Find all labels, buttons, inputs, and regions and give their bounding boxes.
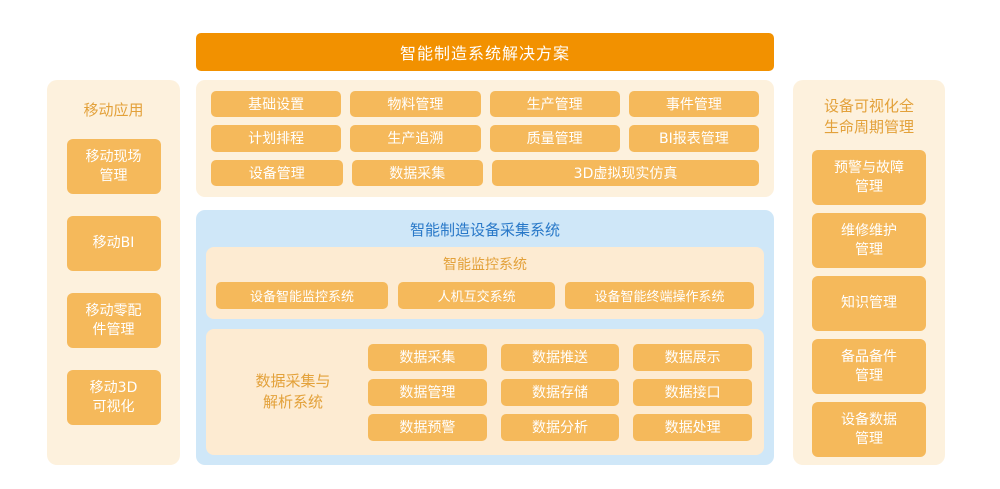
sidebar-item-mobile-site-management[interactable]: 移动现场 管理 bbox=[67, 139, 161, 194]
data-item-data-display[interactable]: 数据展示 bbox=[633, 344, 752, 371]
sidebar-left-mobile-apps: 移动应用 移动现场 管理 移动BI 移动零配 件管理 移动3D 可视化 bbox=[47, 80, 180, 465]
sidebar-right-items: 预警与故障 管理 维修维护 管理 知识管理 备品备件 管理 设备数据 管理 bbox=[793, 150, 945, 457]
module-bi-report-management[interactable]: BI报表管理 bbox=[629, 125, 759, 151]
module-quality-management[interactable]: 质量管理 bbox=[490, 125, 620, 151]
module-production-traceability[interactable]: 生产追溯 bbox=[350, 125, 480, 151]
sidebar-item-alarm-fault-management[interactable]: 预警与故障 管理 bbox=[812, 150, 926, 205]
sidebar-right-equipment-lifecycle: 设备可视化全 生命周期管理 预警与故障 管理 维修维护 管理 知识管理 备品备件… bbox=[793, 80, 945, 465]
monitor-item-human-machine-interaction[interactable]: 人机互交系统 bbox=[398, 282, 555, 309]
monitoring-items: 设备智能监控系统 人机互交系统 设备智能终端操作系统 bbox=[216, 282, 754, 309]
sidebar-item-knowledge-management[interactable]: 知识管理 bbox=[812, 276, 926, 331]
collection-system-title: 智能制造设备采集系统 bbox=[206, 218, 764, 242]
data-acquisition-label: 数据采集与 解析系统 bbox=[218, 371, 368, 413]
sidebar-item-mobile-3d-visualization[interactable]: 移动3D 可视化 bbox=[67, 370, 161, 425]
sidebar-item-spare-parts-management[interactable]: 备品备件 管理 bbox=[812, 339, 926, 394]
sidebar-left-title: 移动应用 bbox=[83, 100, 143, 121]
modules-row-3: 设备管理 数据采集 3D虚拟现实仿真 bbox=[211, 160, 759, 186]
sidebar-item-maintenance-management[interactable]: 维修维护 管理 bbox=[812, 213, 926, 268]
monitoring-system-title: 智能监控系统 bbox=[216, 254, 754, 276]
data-item-data-storage[interactable]: 数据存储 bbox=[501, 379, 620, 406]
data-item-data-alert[interactable]: 数据预警 bbox=[368, 414, 487, 441]
data-item-data-processing[interactable]: 数据处理 bbox=[633, 414, 752, 441]
monitoring-system-panel: 智能监控系统 设备智能监控系统 人机互交系统 设备智能终端操作系统 bbox=[206, 247, 764, 319]
module-event-management[interactable]: 事件管理 bbox=[629, 91, 759, 117]
diagram-canvas: 智能制造系统解决方案 移动应用 移动现场 管理 移动BI 移动零配 件管理 移动… bbox=[0, 0, 1000, 489]
data-acquisition-items: 数据采集 数据推送 数据展示 数据管理 数据存储 数据接口 数据预警 数据分析 … bbox=[368, 344, 752, 441]
sidebar-left-items: 移动现场 管理 移动BI 移动零配 件管理 移动3D 可视化 bbox=[47, 139, 180, 425]
module-production-management[interactable]: 生产管理 bbox=[490, 91, 620, 117]
modules-panel: 基础设置 物料管理 生产管理 事件管理 计划排程 生产追溯 质量管理 BI报表管… bbox=[196, 80, 774, 197]
module-plan-scheduling[interactable]: 计划排程 bbox=[211, 125, 341, 151]
sidebar-item-equipment-data-management[interactable]: 设备数据 管理 bbox=[812, 402, 926, 457]
data-item-data-push[interactable]: 数据推送 bbox=[501, 344, 620, 371]
monitor-item-smart-terminal-os[interactable]: 设备智能终端操作系统 bbox=[565, 282, 754, 309]
module-equipment-management[interactable]: 设备管理 bbox=[211, 160, 343, 186]
data-item-data-management[interactable]: 数据管理 bbox=[368, 379, 487, 406]
modules-row-2: 计划排程 生产追溯 质量管理 BI报表管理 bbox=[211, 125, 759, 151]
monitor-item-equipment-smart-monitoring[interactable]: 设备智能监控系统 bbox=[216, 282, 388, 309]
sidebar-item-mobile-bi[interactable]: 移动BI bbox=[67, 216, 161, 271]
data-item-data-analysis[interactable]: 数据分析 bbox=[501, 414, 620, 441]
data-item-data-interface[interactable]: 数据接口 bbox=[633, 379, 752, 406]
collection-system-panel: 智能制造设备采集系统 智能监控系统 设备智能监控系统 人机互交系统 设备智能终端… bbox=[196, 210, 774, 465]
module-3d-vr-simulation[interactable]: 3D虚拟现实仿真 bbox=[492, 160, 759, 186]
module-basic-settings[interactable]: 基础设置 bbox=[211, 91, 341, 117]
module-data-acquisition[interactable]: 数据采集 bbox=[352, 160, 484, 186]
sidebar-right-title: 设备可视化全 生命周期管理 bbox=[824, 96, 914, 138]
page-title: 智能制造系统解决方案 bbox=[196, 33, 774, 71]
data-acquisition-panel: 数据采集与 解析系统 数据采集 数据推送 数据展示 数据管理 数据存储 数据接口… bbox=[206, 329, 764, 455]
data-item-data-acquisition[interactable]: 数据采集 bbox=[368, 344, 487, 371]
module-material-management[interactable]: 物料管理 bbox=[350, 91, 480, 117]
modules-row-1: 基础设置 物料管理 生产管理 事件管理 bbox=[211, 91, 759, 117]
sidebar-item-mobile-parts-management[interactable]: 移动零配 件管理 bbox=[67, 293, 161, 348]
